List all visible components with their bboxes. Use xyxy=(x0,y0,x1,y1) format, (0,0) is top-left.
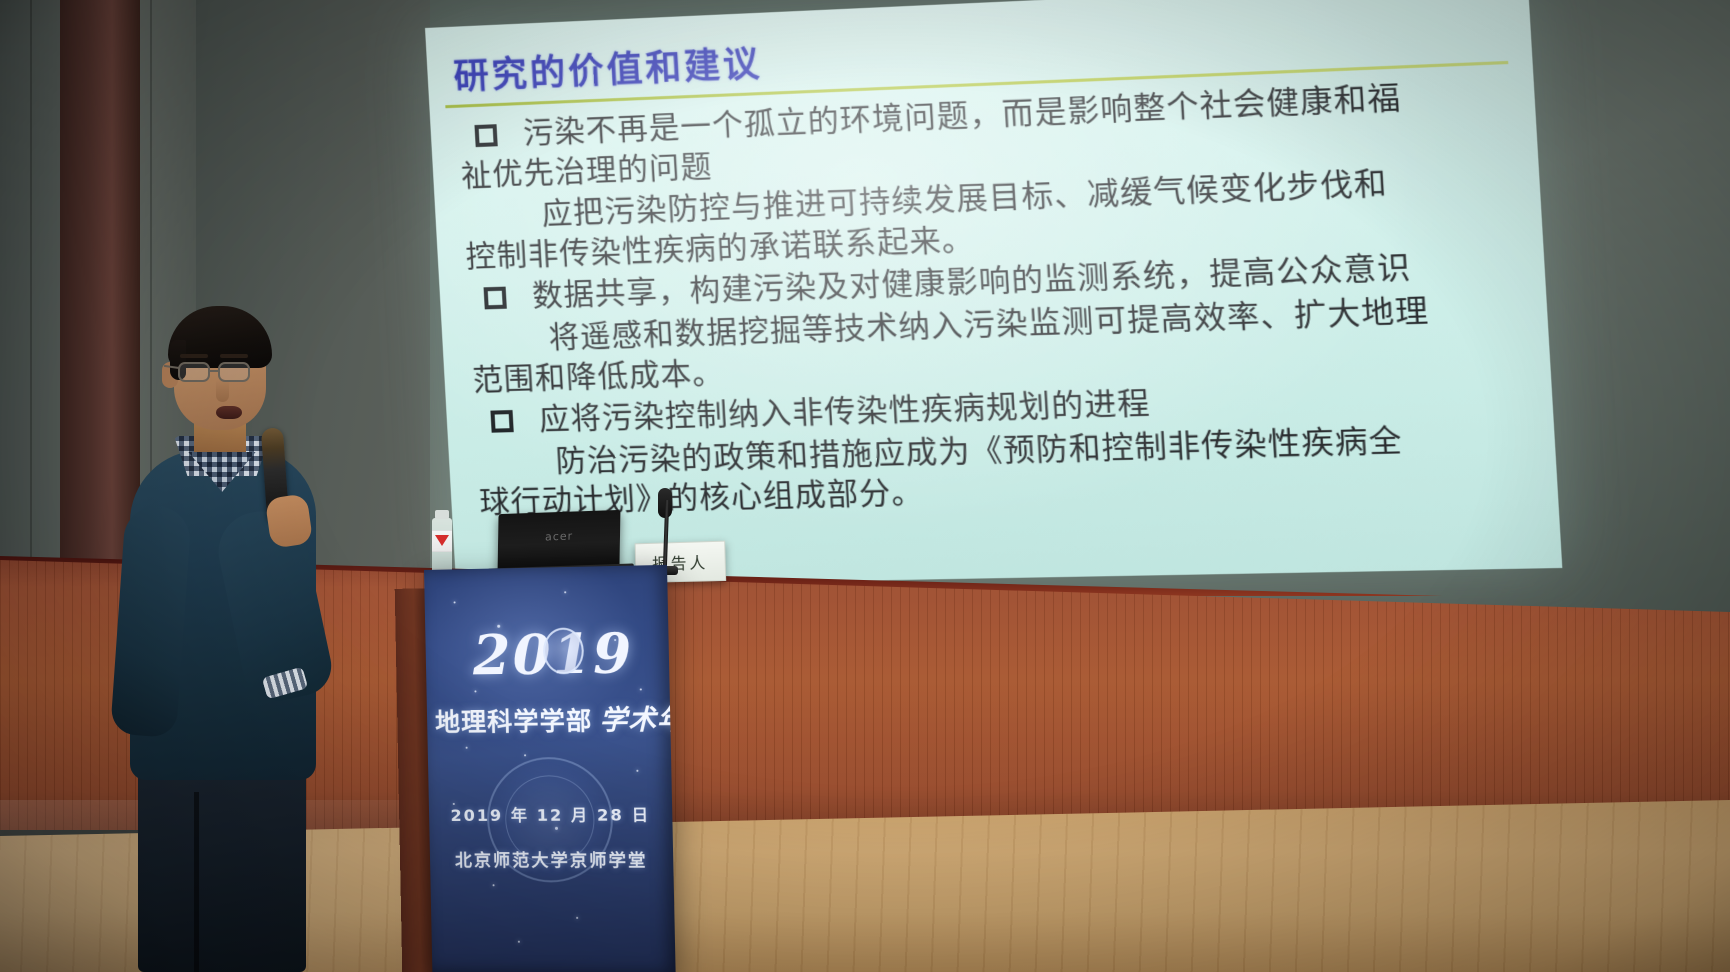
university-seal-icon xyxy=(543,627,585,674)
bullet-square-icon xyxy=(474,124,497,147)
slide-title: 研究的价值和建议 xyxy=(452,35,763,100)
podium-banner-title: 地理科学学部学术年会 xyxy=(435,697,667,739)
slide-body: 污染不再是一个孤立的环境问题，而是影响整个社会健康和福 祉优先治理的问题 应把污… xyxy=(440,73,1550,526)
speaker-eyebrow xyxy=(220,354,248,358)
laptop: acer xyxy=(498,510,621,572)
bullet-square-icon xyxy=(490,410,513,433)
speaker-leg-separation xyxy=(194,792,199,972)
podium-banner-event: 学术年会 xyxy=(599,704,676,737)
podium-banner-dept: 地理科学学部 xyxy=(435,706,593,737)
water-bottle xyxy=(432,518,452,574)
eyeglasses-bridge xyxy=(210,370,220,372)
laptop-brand-label: acer xyxy=(545,529,573,543)
projection-screen: 研究的价值和建议 污染不再是一个孤立的环境问题，而是影响整个社会健康和福 祉优先… xyxy=(425,0,1562,588)
bottle-cap xyxy=(435,510,449,519)
speaker-mouth xyxy=(216,406,242,419)
bullet-square-icon xyxy=(484,287,507,310)
speaker-hair xyxy=(168,306,272,368)
presentation-photo-scene: 研究的价值和建议 污染不再是一个孤立的环境问题，而是影响整个社会健康和福 祉优先… xyxy=(0,0,1730,972)
speaker-person xyxy=(112,300,342,972)
eyeglasses-icon xyxy=(218,362,250,382)
podium-date: 2019 年 12 月 28 日 xyxy=(429,801,673,826)
podium-banner: 2019 地理科学学部学术年会 2019 年 12 月 28 日 北京师范大学京… xyxy=(424,565,676,972)
speaker-nose xyxy=(216,380,229,402)
podium-venue: 北京师范大学京师学堂 xyxy=(430,846,674,871)
eyeglasses-icon xyxy=(178,362,210,382)
bottle-label xyxy=(432,530,452,552)
speaker-legs xyxy=(138,752,306,972)
speaker-hand xyxy=(265,493,314,548)
speaker-eyebrow xyxy=(180,354,208,358)
